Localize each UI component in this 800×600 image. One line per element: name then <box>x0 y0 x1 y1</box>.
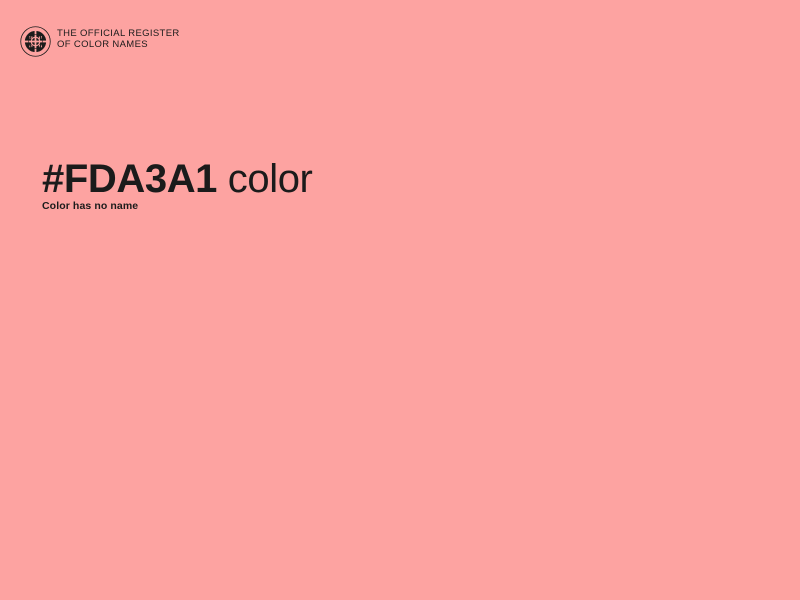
page-title: #FDA3A1 color <box>42 155 312 203</box>
brand-line-1: THE OFFICIAL REGISTER <box>57 28 180 39</box>
title-suffix-label: color <box>217 157 312 201</box>
brand-name: THE OFFICIAL REGISTER OF COLOR NAMES <box>57 26 180 50</box>
hex-code-label: #FDA3A1 <box>42 157 217 201</box>
register-seal-icon <box>20 26 51 57</box>
color-name-status: Color has no name <box>42 199 138 213</box>
brand-line-2: OF COLOR NAMES <box>57 39 180 50</box>
color-page: THE OFFICIAL REGISTER OF COLOR NAMES #FD… <box>0 0 800 600</box>
color-swatch <box>0 0 800 600</box>
brand-lockup[interactable]: THE OFFICIAL REGISTER OF COLOR NAMES <box>20 26 180 57</box>
